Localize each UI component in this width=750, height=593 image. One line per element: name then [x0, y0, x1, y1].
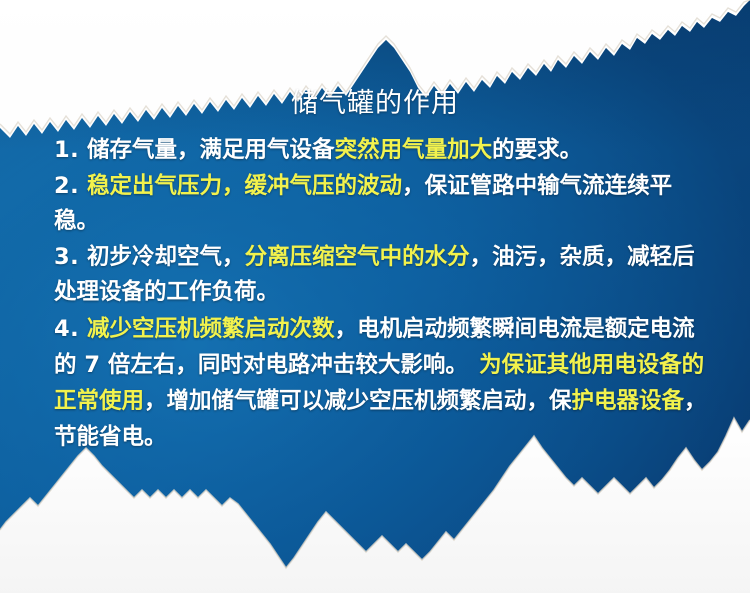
- item-3-number: 3.: [54, 244, 79, 270]
- item-3-seg-1: 初步冷却空气，: [87, 244, 245, 270]
- item-1-number: 1.: [54, 137, 79, 163]
- item-1-seg-1: 储存气量，满足用气设备: [87, 137, 335, 163]
- item-1-seg-2-highlight: 突然用气量加大: [335, 137, 493, 163]
- list-item-1: 1. 储存气量，满足用气设备突然用气量加大的要求。: [54, 133, 714, 169]
- poster-text-content: 储气罐的作用 1. 储存气量，满足用气设备突然用气量加大的要求。 2. 稳定出气…: [0, 0, 750, 593]
- item-2-number: 2.: [54, 173, 79, 199]
- item-4-number: 4.: [54, 316, 79, 342]
- points-list: 1. 储存气量，满足用气设备突然用气量加大的要求。 2. 稳定出气压力，缓冲气压…: [54, 133, 714, 455]
- list-item-2: 2. 稳定出气压力，缓冲气压的波动，保证管路中输气流连续平稳。: [54, 169, 714, 240]
- item-4-seg-4: ，增加储气罐可以减少空压机频繁启动，保: [144, 388, 572, 414]
- item-2-seg-1-highlight: 稳定出气压力，缓冲气压的波动: [87, 173, 402, 199]
- item-4-seg-5-highlight: 护电器设备: [572, 388, 685, 414]
- item-4-seg-1-highlight: 减少空压机频繁启动次数: [87, 316, 335, 342]
- item-3-seg-2-highlight: 分离压缩空气中的水分: [245, 244, 470, 270]
- poster-image: 储气罐的作用 1. 储存气量，满足用气设备突然用气量加大的要求。 2. 稳定出气…: [0, 0, 750, 593]
- list-item-3: 3. 初步冷却空气，分离压缩空气中的水分，油污，杂质，减轻后处理设备的工作负荷。: [54, 240, 714, 311]
- item-1-seg-3: 的要求。: [492, 137, 582, 163]
- list-item-4: 4. 减少空压机频繁启动次数，电机启动频繁瞬间电流是额定电流的 7 倍左右，同时…: [54, 311, 714, 455]
- page-title: 储气罐的作用: [0, 88, 750, 120]
